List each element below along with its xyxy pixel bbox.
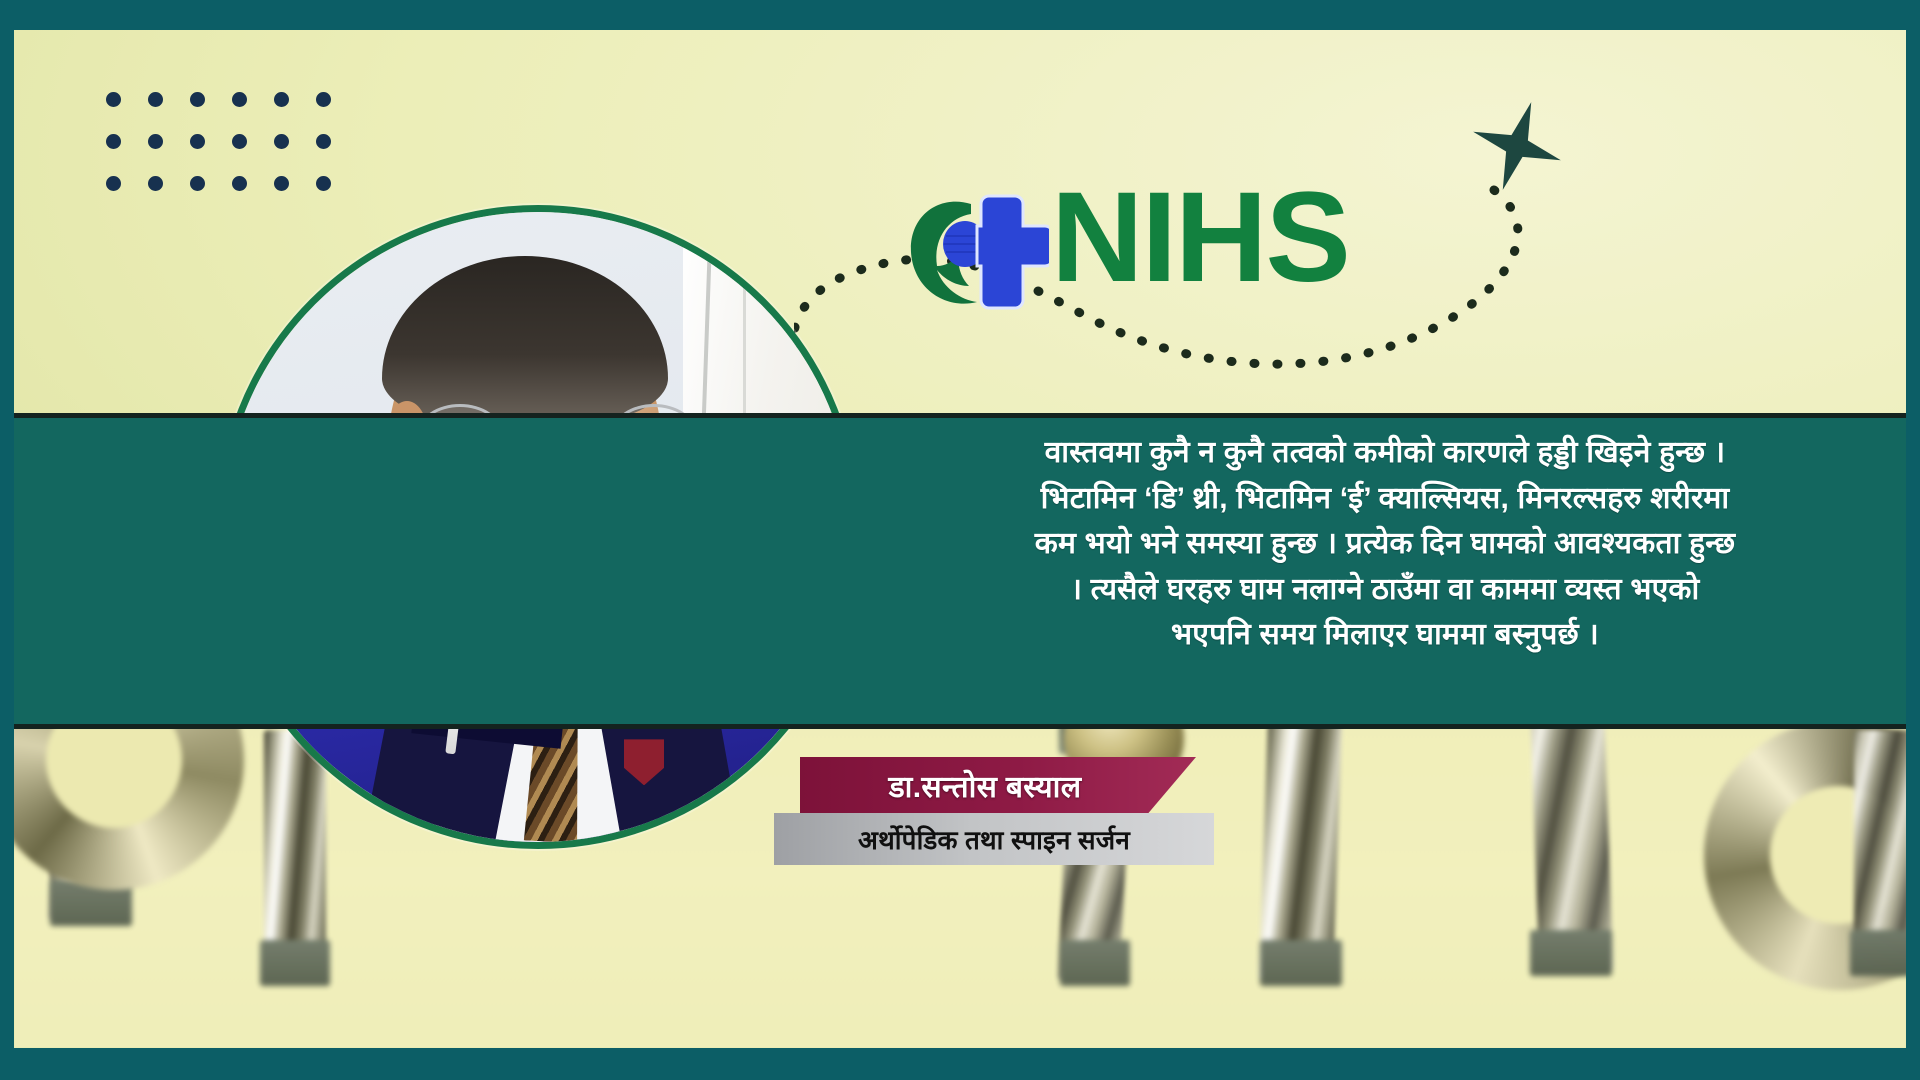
quote-panel: वास्तवमा कुनै न कुनै तत्वको कमीको कारणले… (14, 413, 1906, 729)
poster-canvas: NIHS (0, 0, 1920, 1080)
nihs-logo-text: NIHS (1051, 174, 1349, 302)
quote-line-5: भएपनि समय मिलाएर घाममा बस्नुपर्छ । (898, 612, 1872, 658)
quote-line-4: । त्यसैले घरहरु घाम नलाग्ने ठाउँमा वा का… (898, 567, 1872, 613)
quote-text: वास्तवमा कुनै न कुनै तत्वको कमीको कारणले… (898, 430, 1872, 658)
nihs-logo-mark-icon (899, 188, 1049, 318)
quote-line-1: वास्तवमा कुनै न कुनै तत्वको कमीको कारणले… (898, 430, 1872, 476)
metal-letter-4 (1264, 690, 1338, 980)
speaker-title: अर्थोपेडिक तथा स्पाइन सर्जन (858, 821, 1130, 857)
quote-line-3: कम भयो भने समस्या हुन्छ । प्रत्येक दिन घ… (898, 521, 1872, 567)
dot-grid-decoration (106, 92, 358, 218)
metal-letter-6 (1854, 730, 1906, 970)
nihs-logo: NIHS (899, 180, 1499, 330)
speaker-name-badge: डा.सन्तोस बस्याल (800, 757, 1196, 813)
poster-inner: NIHS (14, 30, 1906, 1048)
speaker-name: डा.सन्तोस बस्याल (889, 765, 1108, 806)
speaker-title-badge: अर्थोपेडिक तथा स्पाइन सर्जन (774, 813, 1214, 865)
quote-line-2: भिटामिन ‘डि’ थ्री, भिटामिन ‘ई’ क्याल्सिय… (898, 476, 1872, 522)
